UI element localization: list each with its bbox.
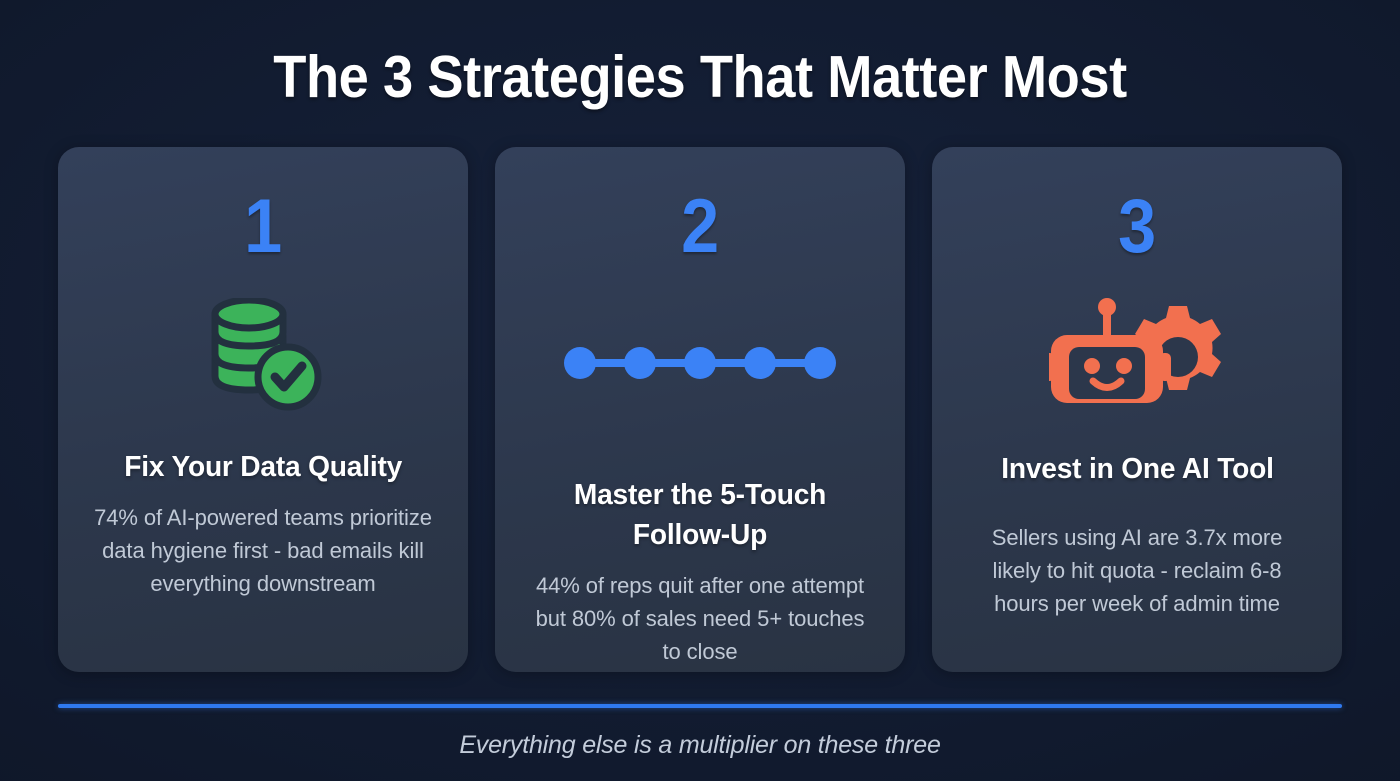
strategy-card-3[interactable]: 3 <box>932 147 1342 672</box>
footer-note: Everything else is a multiplier on these… <box>0 728 1400 762</box>
database-check-icon <box>199 297 327 417</box>
card-heading-2: Master the 5-Touch Follow-Up <box>522 475 877 555</box>
page-title: The 3 Strategies That Matter Most <box>56 40 1344 114</box>
five-dot-chain-icon <box>563 303 837 423</box>
robot-gear-icon <box>1049 297 1225 417</box>
footer-divider <box>58 704 1342 708</box>
card-number-3: 3 <box>1118 189 1156 265</box>
infographic-poster: The 3 Strategies That Matter Most 1 <box>0 0 1400 781</box>
card-body-3: Sellers using AI are 3.7x more likely to… <box>967 521 1307 620</box>
strategy-card-2[interactable]: 2 Master the 5-Touch Follow-Up 44% of re… <box>495 147 905 672</box>
card-number-1: 1 <box>244 189 282 265</box>
card-number-2: 2 <box>681 189 719 265</box>
card-body-1: 74% of AI-powered teams prioritize data … <box>93 501 433 600</box>
card-heading-1: Fix Your Data Quality <box>124 447 402 487</box>
card-body-2: 44% of reps quit after one attempt but 8… <box>530 569 870 668</box>
strategy-card-row: 1 Fix Your Dat <box>58 147 1342 672</box>
strategy-card-1[interactable]: 1 Fix Your Dat <box>58 147 468 672</box>
card-heading-3: Invest in One AI Tool <box>1001 449 1274 489</box>
